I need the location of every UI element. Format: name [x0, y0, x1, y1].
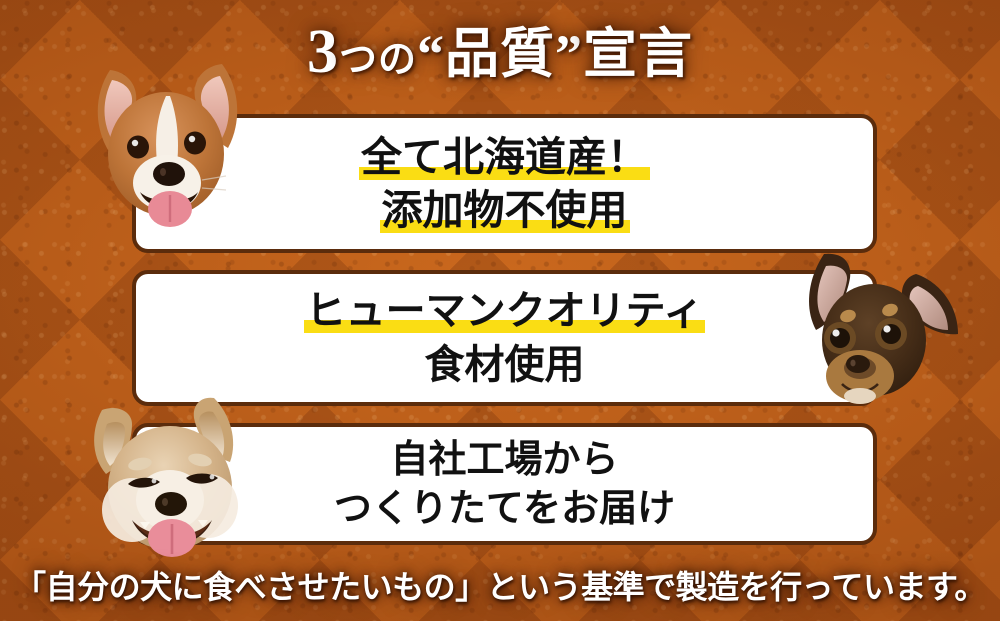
title-keyword: 品質: [445, 24, 555, 84]
banner-caption: 「自分の犬に食べさせたいもの」という基準で製造を行っています。: [0, 567, 1000, 607]
title-particle: つの: [339, 39, 417, 81]
quality-card-3: 自社工場から つくりたてをお届け: [132, 423, 877, 545]
quality-card-2: ヒューマンクオリティ 食材使用: [132, 270, 877, 406]
card-3-line-1: 自社工場から: [388, 441, 620, 479]
card-2-line-1: ヒューマンクオリティ: [304, 291, 706, 331]
card-2-line-2: 食材使用: [423, 345, 587, 385]
promo-banner: 3つの“品質”宣言 全て北海道産！ 添加物不使用 ヒューマンクオリティ 食材使用…: [0, 0, 1000, 621]
quality-card-1: 全て北海道産！ 添加物不使用: [132, 114, 877, 253]
card-1-line-1: 全て北海道産！: [359, 137, 650, 178]
banner-title: 3つの“品質”宣言: [0, 22, 1000, 90]
card-3-line-2: つくりたてをお届け: [332, 490, 677, 528]
title-quote-close: ”: [555, 24, 583, 84]
title-quote-open: “: [417, 24, 445, 84]
card-1-line-2: 添加物不使用: [380, 190, 630, 231]
title-tail: 宣言: [583, 24, 693, 84]
title-number: 3: [307, 18, 339, 86]
